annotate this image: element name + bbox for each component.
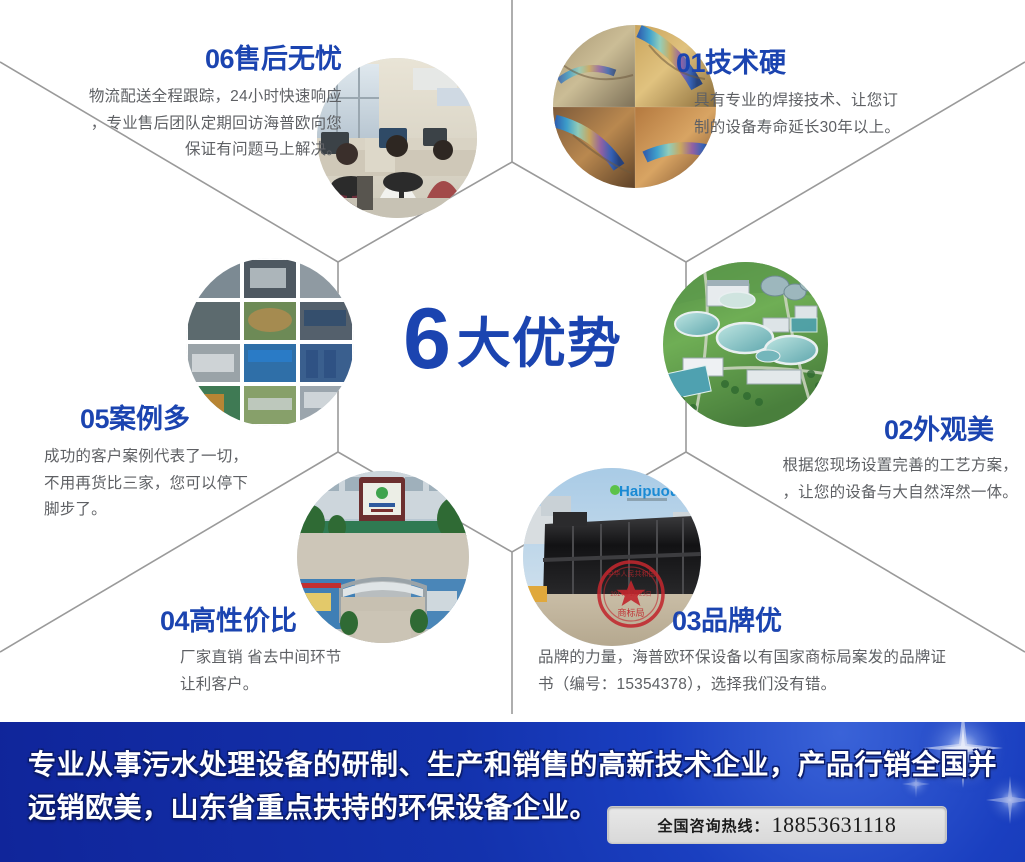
item-06-line-1: 物流配送全程跟踪，24小时快速响应: [12, 84, 342, 111]
item-06: 06售后无忧 物流配送全程跟踪，24小时快速响应 ，专业售后团队定期回访海普欧向…: [12, 44, 342, 164]
case-collage-photo: [186, 258, 354, 426]
hotline-box[interactable]: 全国咨询热线： 18853631118: [607, 806, 947, 844]
item-04-number: 04: [160, 606, 189, 636]
hotline-label: 全国咨询热线：: [658, 815, 770, 836]
center-number: 6: [403, 291, 449, 387]
item-06-title: 售后无忧: [234, 44, 342, 74]
banner-line-1: 专业从事污水处理设备的研制、生产和销售的高新技术企业，产品行销全国并: [28, 749, 997, 780]
item-04-heading: 04高性价比: [160, 606, 460, 637]
item-04-line-2: 让利客户。: [180, 672, 460, 699]
item-05-line-1: 成功的客户案例代表了一切，: [44, 444, 344, 471]
item-06-line-2: ，专业售后团队定期回访海普欧向您: [12, 111, 342, 138]
item-05-body: 成功的客户案例代表了一切， 不用再货比三家，您可以停下 脚步了。: [44, 444, 344, 524]
item-04: 04高性价比 厂家直销 省去中间环节 让利客户。: [160, 606, 460, 698]
item-01-body: 具有专业的焊接技术、让您订 制的设备寿命延长30年以上。: [676, 88, 1016, 141]
center-word: 大优势: [457, 314, 622, 374]
item-02-line-2: ，让您的设备与大自然浑然一体。: [700, 480, 1018, 507]
item-02-title: 外观美: [913, 415, 994, 445]
item-03-line-1: 品牌的力量，海普欧环保设备以有国家商标局案发的品牌证: [538, 645, 1018, 672]
item-06-number: 06: [205, 44, 234, 74]
item-04-line-1: 厂家直销 省去中间环节: [180, 645, 460, 672]
hotline-number: 18853631118: [772, 812, 897, 838]
item-01-number: 01: [676, 48, 705, 78]
item-05-title: 案例多: [109, 404, 190, 434]
item-05-line-2: 不用再货比三家，您可以停下: [44, 471, 344, 498]
item-01-line-1: 具有专业的焊接技术、让您订: [694, 88, 1016, 115]
infographic-root: 6大优势: [0, 0, 1025, 862]
item-03: 03品牌优 品牌的力量，海普欧环保设备以有国家商标局案发的品牌证 书（编号：15…: [538, 606, 1018, 698]
item-02-body: 根据您现场设置完善的工艺方案， ，让您的设备与大自然浑然一体。: [700, 453, 1018, 506]
item-03-body: 品牌的力量，海普欧环保设备以有国家商标局案发的品牌证 书（编号：15354378…: [538, 645, 1018, 698]
item-05-heading: 05案例多: [44, 404, 344, 435]
item-01-title: 技术硬: [705, 48, 786, 78]
aerial-wastewater-plant-photo: [663, 262, 828, 427]
item-03-title: 品牌优: [701, 606, 782, 636]
item-03-heading: 03品牌优: [538, 606, 1018, 637]
item-02-heading: 02外观美: [700, 415, 1018, 446]
item-06-line-3: 保证有问题马上解决。: [12, 137, 342, 164]
svg-text:2014年1月23日: 2014年1月23日: [610, 590, 651, 598]
item-03-number: 03: [672, 606, 701, 636]
item-05-number: 05: [80, 404, 109, 434]
item-05-line-3: 脚步了。: [44, 497, 344, 524]
item-06-heading: 06售后无忧: [12, 44, 342, 75]
item-01-heading: 01技术硬: [676, 48, 1016, 79]
item-01: 01技术硬 具有专业的焊接技术、让您订 制的设备寿命延长30年以上。: [676, 48, 1016, 141]
item-01-line-2: 制的设备寿命延长30年以上。: [694, 115, 1016, 142]
item-04-title: 高性价比: [189, 606, 297, 636]
item-06-body: 物流配送全程跟踪，24小时快速响应 ，专业售后团队定期回访海普欧向您 保证有问题…: [12, 84, 342, 164]
center-title: 6大优势: [0, 296, 1025, 382]
item-04-body: 厂家直销 省去中间环节 让利客户。: [160, 645, 460, 698]
item-03-line-2: 书（编号：15354378），选择我们没有错。: [538, 672, 1018, 699]
item-02-number: 02: [884, 415, 913, 445]
item-05: 05案例多 成功的客户案例代表了一切， 不用再货比三家，您可以停下 脚步了。: [44, 404, 344, 524]
item-02-line-1: 根据您现场设置完善的工艺方案，: [700, 453, 1018, 480]
svg-text:中华人民共和国: 中华人民共和国: [607, 569, 656, 578]
item-02: 02外观美 根据您现场设置完善的工艺方案， ，让您的设备与大自然浑然一体。: [700, 415, 1018, 506]
